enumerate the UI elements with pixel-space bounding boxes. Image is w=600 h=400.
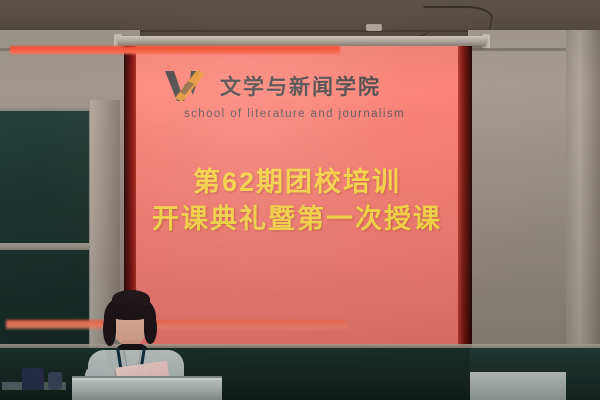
chalkboard-divider-rail bbox=[0, 243, 92, 250]
slide-headline: 第62期团校培训 开课典礼暨第一次授课 bbox=[136, 164, 458, 239]
desk-right bbox=[470, 372, 566, 400]
screen-glow-top bbox=[10, 46, 340, 54]
podium bbox=[72, 378, 222, 400]
ceiling-mount-bracket bbox=[366, 24, 382, 31]
logo-lockup: 文学与新闻学院 bbox=[164, 68, 381, 104]
screen-edge-right bbox=[457, 46, 472, 352]
photo-scene: 文学与新闻学院 school of literature and journal… bbox=[0, 0, 600, 400]
projector-screen-roller bbox=[118, 36, 486, 46]
desk-object-primary bbox=[22, 368, 44, 390]
headline-line-1: 第62期团校培训 bbox=[136, 164, 458, 201]
logo-english-name: school of literature and journalism bbox=[184, 108, 405, 120]
desk-object-secondary bbox=[48, 372, 62, 390]
logo-chinese-name: 文学与新闻学院 bbox=[220, 71, 381, 101]
hair-side-right bbox=[144, 312, 157, 344]
w-monogram-icon bbox=[164, 68, 210, 104]
headline-line-2: 开课典礼暨第一次授课 bbox=[136, 201, 458, 238]
hair-side-left bbox=[103, 312, 116, 346]
